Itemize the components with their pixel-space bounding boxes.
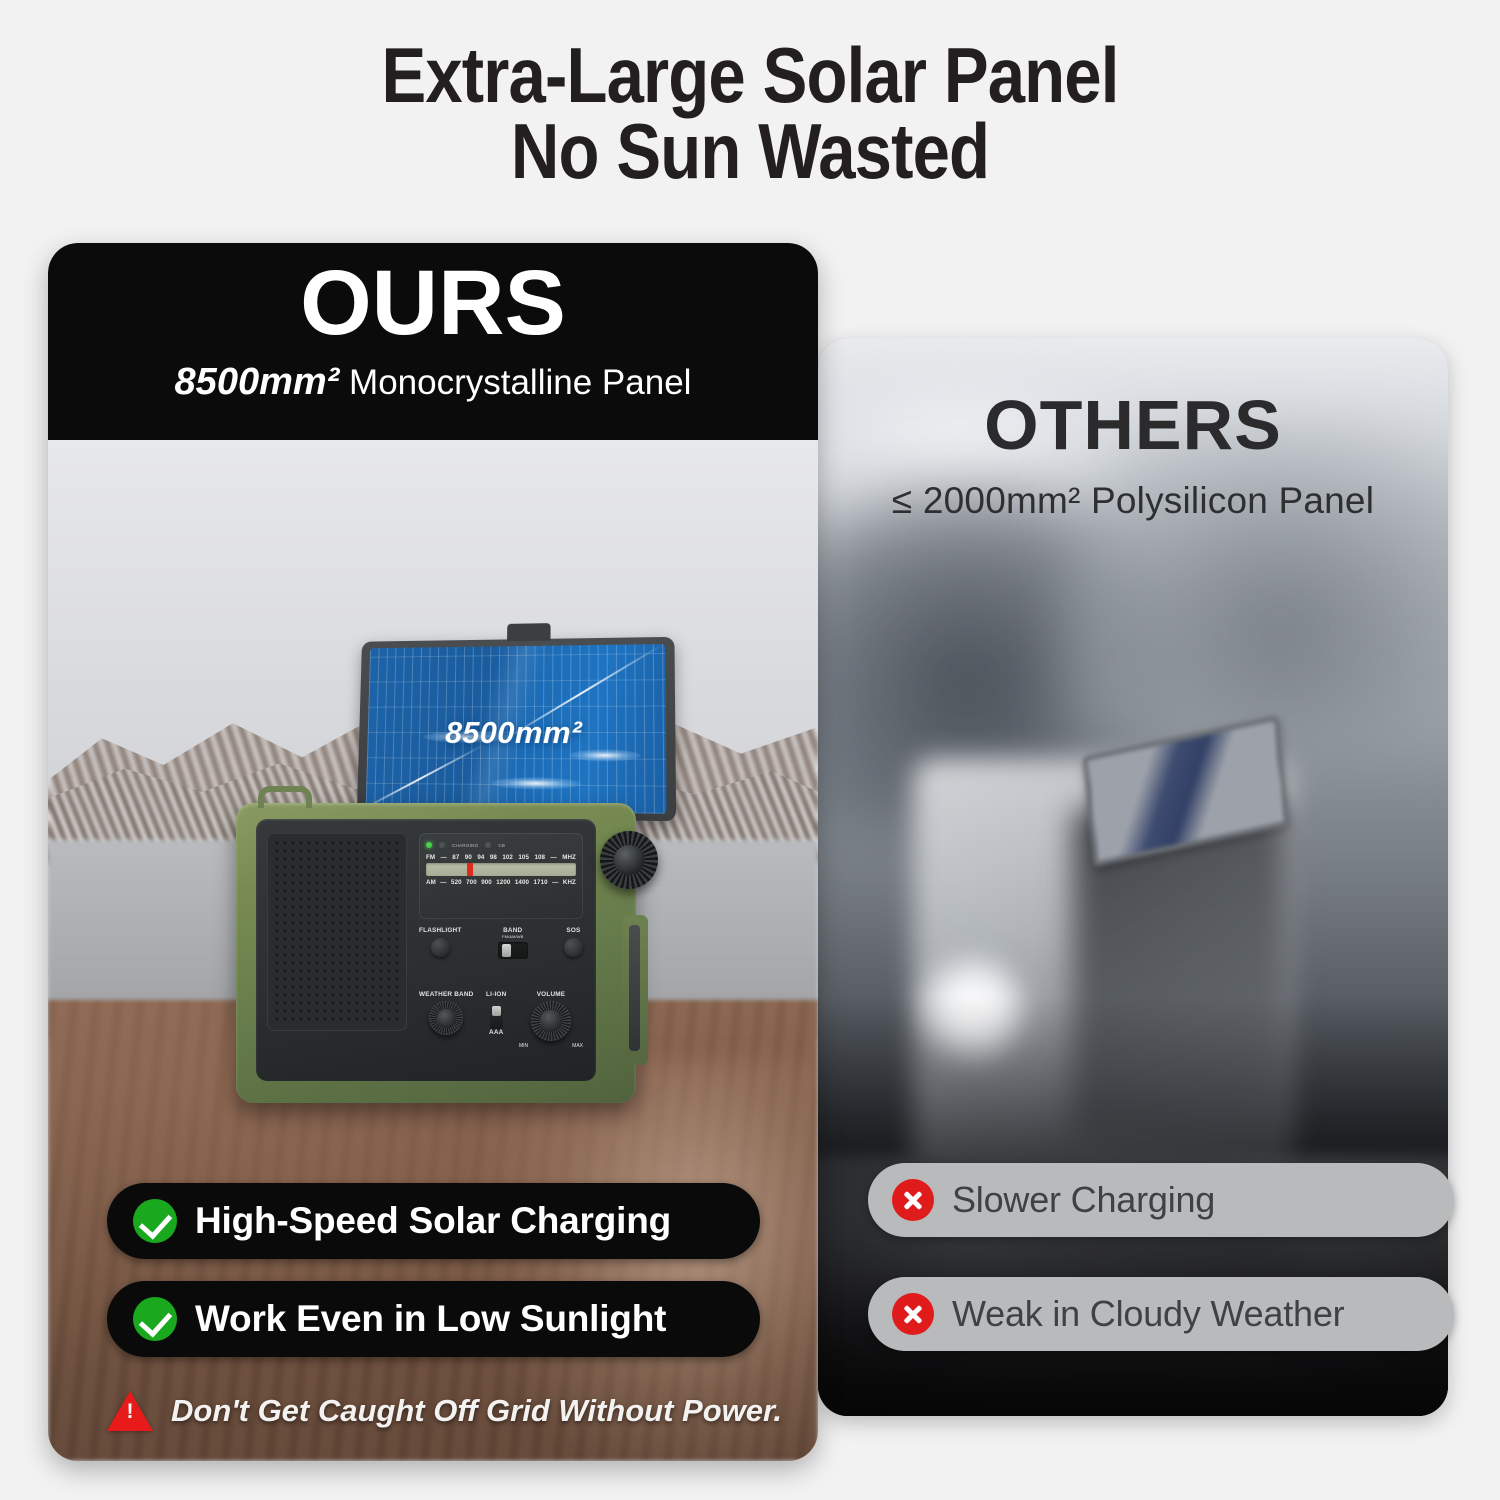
fm-tick: 94: [477, 854, 484, 861]
headline-line-2: No Sun Wasted: [105, 114, 1395, 190]
charging-led: [439, 842, 445, 848]
cb-label: CB: [498, 843, 505, 848]
volume-knob[interactable]: [531, 1001, 571, 1041]
fm-tick: 87: [452, 854, 459, 861]
flashlight-button[interactable]: [431, 938, 450, 957]
band-slider-switch[interactable]: [498, 942, 528, 959]
am-scale-row: AM — 520 700 900 1200 1400 1710 — KHZ: [426, 879, 576, 886]
am-tick: 1200: [496, 879, 510, 886]
fm-scale-row: FM — 87 90 94 98 102 105 108 — MHZ: [426, 854, 576, 861]
drawback-pill-2[interactable]: Weak in Cloudy Weather: [868, 1277, 1454, 1351]
check-circle-icon: [133, 1199, 177, 1243]
fm-dash: —: [441, 854, 447, 861]
others-comparison-card: OTHERS ≤ 2000mm² Polysilicon Panel: [818, 338, 1448, 1416]
am-unit: KHZ: [563, 879, 576, 886]
benefit-label: High-Speed Solar Charging: [195, 1200, 671, 1242]
side-tuning-knob[interactable]: [600, 831, 658, 889]
benefit-pill-2[interactable]: Work Even in Low Sunlight: [107, 1281, 760, 1357]
drawback-label: Slower Charging: [952, 1179, 1215, 1221]
solar-panel: 8500mm²: [357, 637, 676, 821]
knob-row: WEATHER BAND LI-ION AAA VOLUME: [419, 991, 583, 1071]
volume-control[interactable]: VOLUME MIN MAX: [519, 991, 583, 1049]
am-tick: 520: [451, 879, 462, 886]
am-tick: 1710: [534, 879, 548, 886]
fm-tick: 98: [490, 854, 497, 861]
solar-panel-cells: 8500mm²: [366, 644, 667, 814]
radio-front-face: CHARGING CB FM — 87 90 94 98: [256, 819, 596, 1081]
fm-tick: 102: [502, 854, 513, 861]
battery-selector-switch[interactable]: [490, 1003, 503, 1029]
carry-handle: [258, 786, 312, 808]
volume-min-label: MIN: [519, 1043, 528, 1049]
cb-led: [485, 842, 491, 848]
solar-radio-product: 8500mm² CHARGING CB: [236, 803, 666, 1103]
sos-button[interactable]: [564, 938, 583, 957]
fm-tick: 90: [465, 854, 472, 861]
tuning-needle[interactable]: [467, 863, 473, 876]
drawback-pill-1[interactable]: Slower Charging: [868, 1163, 1454, 1237]
battery-selector-control[interactable]: LI-ION AAA: [486, 991, 506, 1036]
solar-panel-hinge-tab: [507, 623, 551, 641]
am-tick: 900: [481, 879, 492, 886]
check-circle-icon: [133, 1297, 177, 1341]
weather-band-label: WEATHER BAND: [419, 991, 473, 998]
x-circle-icon: [892, 1293, 934, 1335]
others-title: OTHERS: [818, 390, 1448, 460]
band-control[interactable]: BAND FM/AM/WB: [498, 927, 528, 959]
sos-control[interactable]: SOS: [564, 927, 583, 957]
indicator-leds: CHARGING CB: [426, 839, 576, 851]
fm-unit: MHZ: [562, 854, 576, 861]
infographic-canvas: Extra-Large Solar Panel No Sun Wasted OT…: [0, 0, 1500, 1500]
headline-line-1: Extra-Large Solar Panel: [381, 31, 1118, 119]
x-circle-icon: [892, 1179, 934, 1221]
ours-spec-text: 8500mm² Monocrystalline Panel: [48, 361, 818, 404]
weather-band-control[interactable]: WEATHER BAND: [419, 991, 473, 1035]
others-header: OTHERS ≤ 2000mm² Polysilicon Panel: [818, 390, 1448, 522]
speaker-grille: [267, 833, 407, 1031]
weather-band-knob[interactable]: [429, 1001, 463, 1035]
drawback-label: Weak in Cloudy Weather: [952, 1293, 1344, 1335]
charging-label: CHARGING: [452, 843, 478, 848]
button-row: FLASHLIGHT BAND FM/AM/WB SOS: [419, 927, 583, 983]
light-glow: [490, 777, 581, 790]
tuning-dial-display: CHARGING CB FM — 87 90 94 98: [419, 833, 583, 919]
am-tick: 1400: [515, 879, 529, 886]
ours-header: OURS 8500mm² Monocrystalline Panel: [48, 243, 818, 440]
radio-body: CHARGING CB FM — 87 90 94 98: [236, 803, 636, 1103]
flashlight-label: FLASHLIGHT: [419, 927, 461, 934]
band-label: BAND: [498, 927, 528, 934]
ours-title: OURS: [48, 257, 818, 349]
others-spec-text: ≤ 2000mm² Polysilicon Panel: [818, 480, 1448, 522]
flashlight-control[interactable]: FLASHLIGHT: [419, 927, 461, 957]
benefit-label: Work Even in Low Sunlight: [195, 1298, 666, 1340]
am-dash: —: [440, 879, 446, 886]
fm-label: FM: [426, 854, 435, 861]
fm-tick: 105: [518, 854, 529, 861]
sos-label: SOS: [564, 927, 583, 934]
warning-text: Don't Get Caught Off Grid Without Power.: [171, 1393, 782, 1429]
li-ion-label: LI-ION: [486, 991, 506, 998]
side-panel-rail: [622, 915, 648, 1065]
tuning-scale-bar[interactable]: [426, 863, 576, 876]
am-label: AM: [426, 879, 436, 886]
volume-max-label: MAX: [572, 1043, 583, 1049]
volume-label: VOLUME: [519, 991, 583, 998]
aaa-label: AAA: [486, 1029, 506, 1036]
band-sublabel: FM/AM/WB: [498, 934, 528, 939]
solar-panel-area-label: 8500mm²: [367, 715, 666, 752]
am-tick: 700: [466, 879, 477, 886]
fm-tick: 108: [534, 854, 545, 861]
ours-spec-rest: Monocrystalline Panel: [339, 363, 691, 402]
power-led: [426, 842, 432, 848]
page-title: Extra-Large Solar Panel No Sun Wasted: [105, 38, 1395, 189]
am-dash: —: [552, 879, 558, 886]
ours-spec-value: 8500mm²: [175, 361, 340, 403]
warning-triangle-icon: [107, 1391, 153, 1431]
warning-banner: Don't Get Caught Off Grid Without Power.: [107, 1382, 767, 1440]
volume-range-labels: MIN MAX: [519, 1043, 583, 1049]
benefit-pill-1[interactable]: High-Speed Solar Charging: [107, 1183, 760, 1259]
ours-comparison-card: OURS 8500mm² Monocrystalline Panel: [48, 243, 818, 1461]
fm-dash: —: [550, 854, 556, 861]
